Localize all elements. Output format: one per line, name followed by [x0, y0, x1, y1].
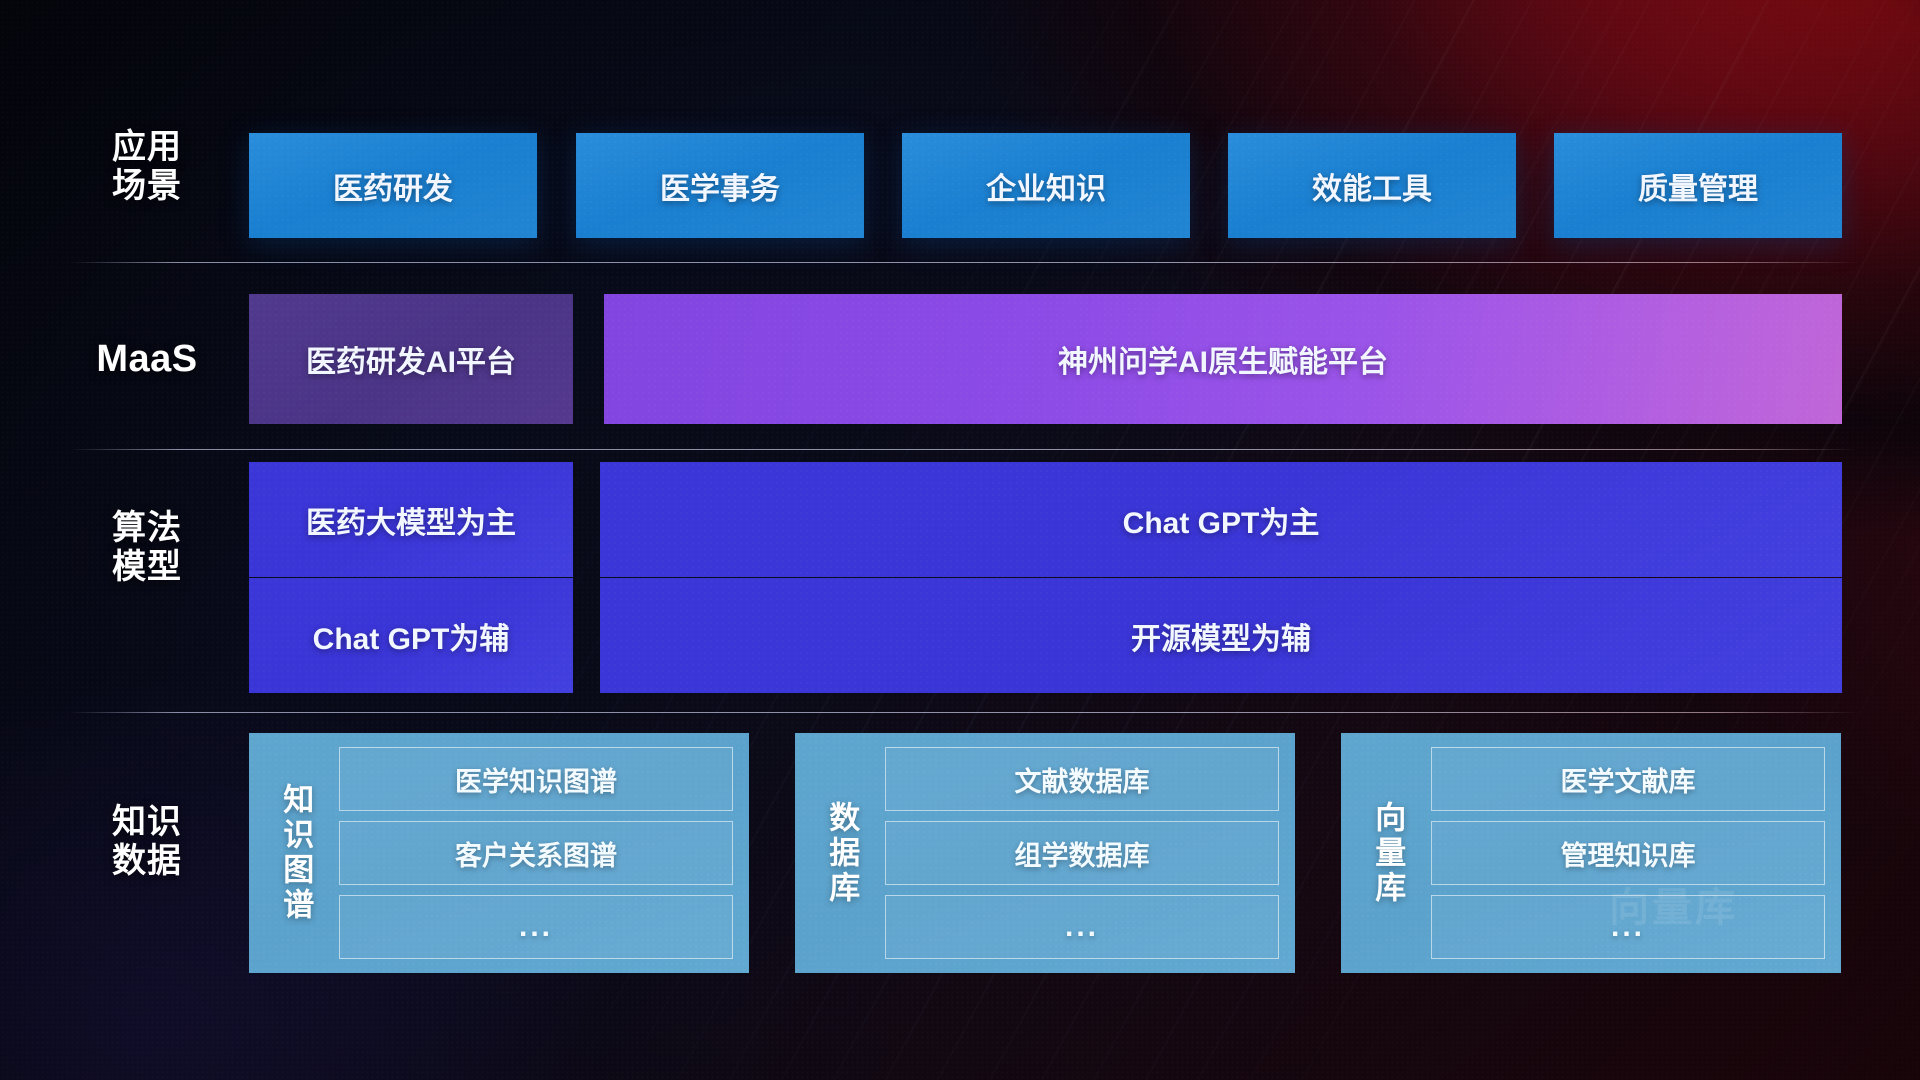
algorithm-card-secondary-right[interactable]: 开源模型为辅 — [600, 578, 1842, 693]
row-label-algorithm: 算法 模型 — [72, 509, 222, 588]
algorithm-card-primary-left[interactable]: 医药大模型为主 — [249, 462, 573, 577]
scenario-card-3-label: 企业知识 — [986, 164, 1106, 208]
knowledge-item[interactable]: 医学文献库 — [1431, 747, 1825, 811]
algorithm-card-primary-right-label: Chat GPT为主 — [1123, 498, 1320, 542]
knowledge-panel-vector[interactable]: 向量库 医学文献库 管理知识库 ... 向量库 — [1341, 733, 1841, 973]
slide-canvas: 应用 场景 医药研发 医学事务 企业知识 效能工具 质量管理 MaaS 医药研发… — [0, 0, 1920, 1080]
algorithm-card-primary-right[interactable]: Chat GPT为主 — [600, 462, 1842, 577]
scenario-card-1[interactable]: 医药研发 — [249, 133, 537, 238]
scenario-card-4[interactable]: 效能工具 — [1228, 133, 1516, 238]
algorithm-card-secondary-left[interactable]: Chat GPT为辅 — [249, 578, 573, 693]
algorithm-card-primary-left-label: 医药大模型为主 — [306, 498, 516, 542]
divider-maas-algorithm — [70, 449, 1858, 450]
scenario-card-5[interactable]: 质量管理 — [1554, 133, 1842, 238]
maas-platform-card[interactable]: 医药研发AI平台 — [249, 294, 573, 424]
knowledge-item-more[interactable]: ... — [885, 895, 1279, 959]
scenario-card-3[interactable]: 企业知识 — [902, 133, 1190, 238]
scenario-card-2[interactable]: 医学事务 — [576, 133, 864, 238]
knowledge-panel-vector-items: 医学文献库 管理知识库 ... — [1431, 747, 1825, 959]
maas-native-platform-label: 神州问学AI原生赋能平台 — [1058, 337, 1388, 381]
knowledge-item[interactable]: 组学数据库 — [885, 821, 1279, 885]
row-label-scenario: 应用 场景 — [72, 128, 222, 207]
knowledge-panel-graph-title: 知识图谱 — [263, 747, 327, 959]
scenario-card-1-label: 医药研发 — [333, 164, 453, 208]
knowledge-panel-graph[interactable]: 知识图谱 医学知识图谱 客户关系图谱 ... — [249, 733, 749, 973]
knowledge-item-more[interactable]: ... — [1431, 895, 1825, 959]
knowledge-panel-database-title: 数据库 — [809, 747, 873, 959]
knowledge-item[interactable]: 文献数据库 — [885, 747, 1279, 811]
algorithm-card-secondary-right-label: 开源模型为辅 — [1131, 614, 1311, 658]
knowledge-panel-database-items: 文献数据库 组学数据库 ... — [885, 747, 1279, 959]
knowledge-item[interactable]: 管理知识库 — [1431, 821, 1825, 885]
knowledge-panel-vector-title: 向量库 — [1355, 747, 1419, 959]
scenario-card-2-label: 医学事务 — [660, 164, 780, 208]
knowledge-panel-database[interactable]: 数据库 文献数据库 组学数据库 ... — [795, 733, 1295, 973]
algorithm-card-secondary-left-label: Chat GPT为辅 — [313, 614, 510, 658]
knowledge-item[interactable]: 医学知识图谱 — [339, 747, 733, 811]
architecture-diagram: 应用 场景 医药研发 医学事务 企业知识 效能工具 质量管理 MaaS 医药研发… — [0, 0, 1920, 1080]
divider-scenario-maas — [70, 262, 1858, 263]
row-label-maas: MaaS — [72, 337, 222, 381]
scenario-card-5-label: 质量管理 — [1638, 164, 1758, 208]
maas-platform-label: 医药研发AI平台 — [306, 337, 516, 381]
knowledge-panel-graph-items: 医学知识图谱 客户关系图谱 ... — [339, 747, 733, 959]
maas-native-platform-card[interactable]: 神州问学AI原生赋能平台 — [604, 294, 1842, 424]
divider-algorithm-knowledge — [70, 712, 1858, 713]
row-label-knowledge: 知识 数据 — [72, 803, 222, 882]
scenario-card-4-label: 效能工具 — [1312, 164, 1432, 208]
knowledge-item[interactable]: 客户关系图谱 — [339, 821, 733, 885]
knowledge-item-more[interactable]: ... — [339, 895, 733, 959]
